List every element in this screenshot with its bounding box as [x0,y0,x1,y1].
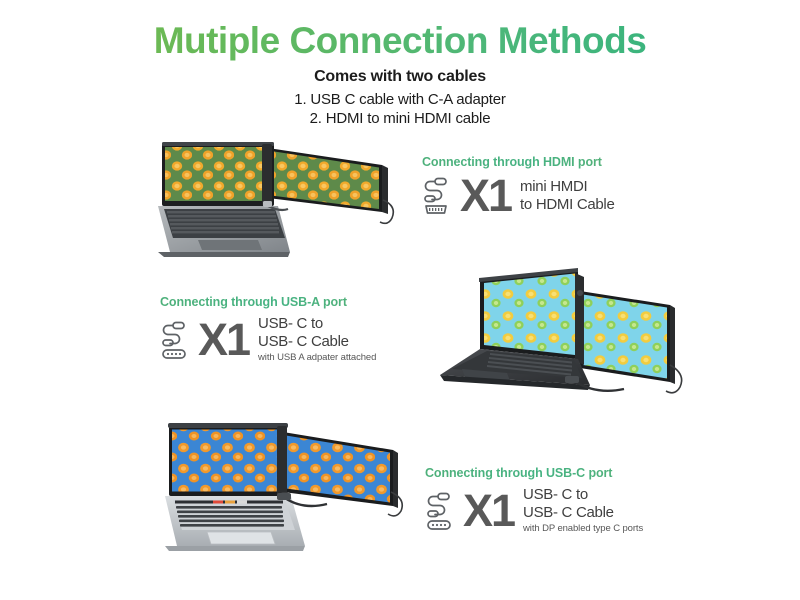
figure-laptop-usb-c [155,420,417,555]
desc-usb-a-line1: USB- C to [258,315,376,333]
page-header: Mutiple Connection Methods Comes with tw… [0,0,800,128]
desc-usb-c-line1: USB- C to [523,486,643,504]
page-subtitle: Comes with two cables [0,68,800,86]
cable-list: 1. USB C cable with C-A adapter 2. HDMI … [0,90,800,128]
quantity-hdmi: X1 [460,175,511,216]
desc-usb-c-note: with DP enabled type C ports [523,523,643,535]
laptop-screen [162,142,274,206]
info-block-hdmi: Connecting through HDMI port X1 [422,155,615,216]
figure-laptop-usb-a [432,265,694,400]
monitor-hinge [277,426,288,503]
desc-hdmi-line2: to HDMI Cable [520,196,614,214]
quantity-usb-a: X1 [198,319,249,360]
desc-hdmi-line1: mini HMDI [520,178,614,196]
desc-usb-c-line2: USB- C Cable [523,504,643,522]
desc-usb-a: USB- C to USB- C Cable with USB A adpate… [258,315,376,365]
desc-usb-c: USB- C to USB- C Cable with DP enabled t… [523,486,643,536]
laptop-base [165,496,305,551]
info-block-usb-a: Connecting through USB-A port X1 USB- C … [160,295,376,365]
desc-hdmi: mini HMDI to HDMI Cable [520,178,614,213]
desc-usb-a-line2: USB- C Cable [258,333,376,351]
laptop-base [158,206,290,257]
block-heading-usb-c: Connecting through USB-C port [425,466,643,480]
cable-usbc-icon [425,491,459,531]
laptop-with-dual-extension-screens-green [150,140,400,265]
laptop-screen [479,268,578,359]
block-row-hdmi: X1 mini HMDI to HDMI Cable [422,175,615,216]
info-block-usb-c: Connecting through USB-C port X1 USB- C … [425,466,643,536]
desc-usb-a-note: with USB A adpater attached [258,352,376,364]
page-title: Mutiple Connection Methods [0,0,800,61]
right-extension-monitor [268,148,393,223]
cable-list-item-2: 2. HDMI to mini HDMI cable [0,109,800,128]
quantity-usb-c: X1 [463,490,514,531]
block-heading-hdmi: Connecting through HDMI port [422,155,615,169]
macbook-with-dual-extension-screens-blue [155,420,417,555]
right-extension-monitor [283,432,402,516]
monitor-hinge [575,273,584,365]
laptop-screen [168,423,288,496]
cable-hdmi-icon [422,176,456,216]
block-heading-usb-a: Connecting through USB-A port [160,295,376,309]
block-row-usb-a: X1 USB- C to USB- C Cable with USB A adp… [160,315,376,365]
cable-list-item-1: 1. USB C cable with C-A adapter [0,90,800,109]
right-extension-monitor [580,291,682,393]
block-row-usb-c: X1 USB- C to USB- C Cable with DP enable… [425,486,643,536]
cable-usba-icon [160,320,194,360]
figure-laptop-hdmi [150,140,400,265]
laptop-with-dual-extension-screens-blue [432,265,694,400]
